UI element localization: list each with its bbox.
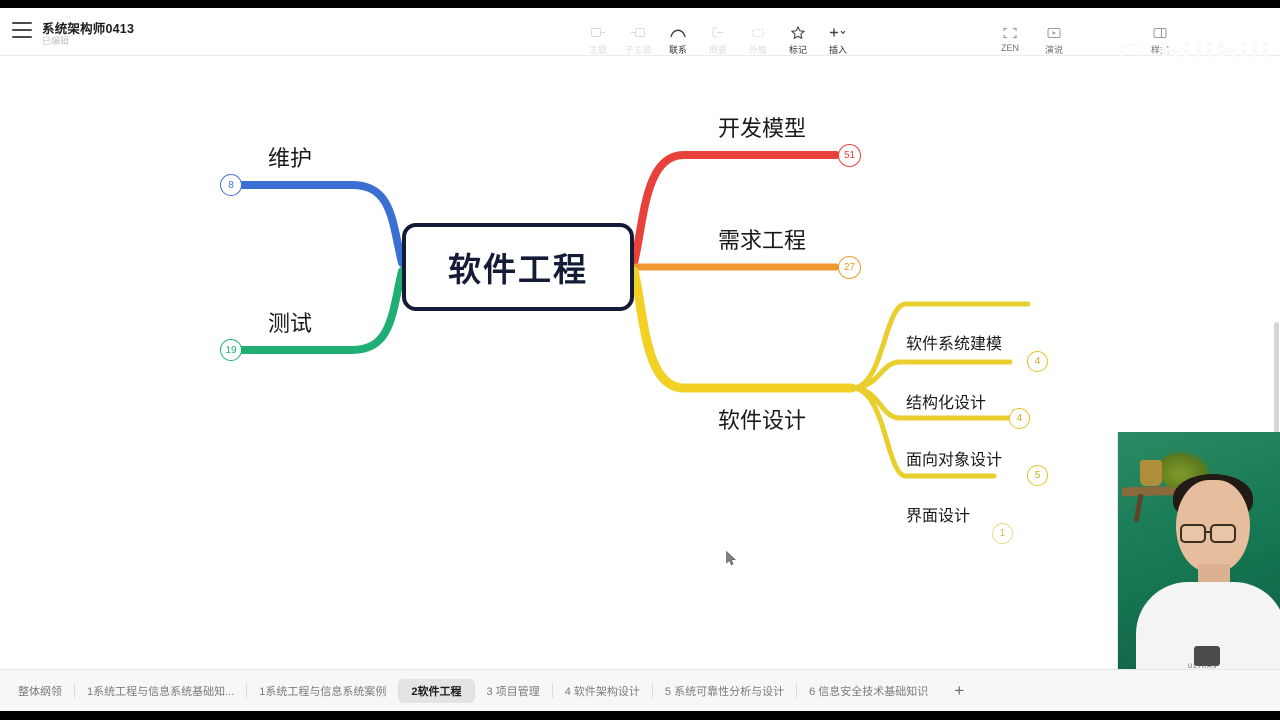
app-header: 系统架构师0413 已编辑 主题 子主题 联系 概要 xyxy=(0,8,1280,56)
sheet-tab-4[interactable]: 3 项目管理 xyxy=(475,679,552,703)
zen-icon xyxy=(1003,25,1017,40)
boundary-icon xyxy=(751,25,765,40)
glasses-left-lens xyxy=(1180,524,1206,543)
subnode-badge-structured-design[interactable]: 4 xyxy=(1009,408,1030,429)
subnode-badge-system-modeling[interactable]: 4 xyxy=(1027,351,1048,372)
toolbar: 主题 子主题 联系 概要 外框 xyxy=(578,16,858,62)
central-node[interactable]: 软件工程 xyxy=(402,223,634,311)
mindmap-branch-lines xyxy=(0,57,1280,669)
branch-label-design[interactable]: 软件设计 xyxy=(718,403,806,435)
add-sheet-button[interactable]: + xyxy=(940,682,978,699)
presentation-icon xyxy=(1047,25,1061,40)
branch-label-requirements[interactable]: 需求工程 xyxy=(718,223,806,255)
toolbar-label-zen: ZEN xyxy=(1001,43,1019,53)
relation-icon xyxy=(670,25,686,40)
branch-badge-maintenance[interactable]: 8 xyxy=(220,174,242,196)
sheet-tab-2[interactable]: 1系统工程与信息系统案例 xyxy=(247,679,398,703)
sheet-tab-1[interactable]: 1系统工程与信息系统基础知... xyxy=(75,679,246,703)
sheet-tab-6[interactable]: 5 系统可靠性分析与设计 xyxy=(653,679,796,703)
sheet-tabbar: 整体纲领 1系统工程与信息系统基础知... 1系统工程与信息系统案例 2软件工程… xyxy=(0,669,1280,711)
document-save-status: 已编辑 xyxy=(42,34,69,47)
toolbar-label-insert: 插入 xyxy=(829,43,847,56)
subnode-label-oo-design[interactable]: 面向对象设计 xyxy=(906,446,1002,470)
subnode-label-ui-design[interactable]: 界面设计 xyxy=(906,502,970,526)
toolbar-button-zen[interactable]: ZEN xyxy=(988,16,1032,53)
branch-badge-dev-model[interactable]: 51 xyxy=(838,144,861,167)
toolbar-button-subtopic[interactable]: 子主题 xyxy=(618,16,658,56)
summary-icon xyxy=(711,25,725,40)
toolbar-button-marker[interactable]: 标记 xyxy=(778,16,818,56)
sheet-tab-7[interactable]: 6 信息安全技术基础知识 xyxy=(797,679,940,703)
style-icon xyxy=(1153,25,1167,40)
toolbar-button-style[interactable]: 样式 xyxy=(1138,16,1182,56)
subnode-label-system-modeling[interactable]: 软件系统建模 xyxy=(906,330,1002,354)
shirt-logo-icon xyxy=(1194,646,1220,666)
toolbar-button-boundary[interactable]: 外框 xyxy=(738,16,778,56)
toolbar-button-presentation[interactable]: 演说 xyxy=(1032,16,1076,56)
branch-label-maintenance[interactable]: 维护 xyxy=(268,141,312,173)
webcam-overlay: ULTRAS xyxy=(1117,432,1280,675)
toolbar-right: ZEN 演说 样式 xyxy=(988,16,1182,62)
marker-icon xyxy=(791,25,805,40)
subnode-badge-ui-design[interactable]: 1 xyxy=(992,523,1013,544)
toolbar-button-topic[interactable]: 主题 xyxy=(578,16,618,56)
toolbar-button-summary[interactable]: 概要 xyxy=(698,16,738,56)
toolbar-label-marker: 标记 xyxy=(789,43,807,56)
subnode-label-structured-design[interactable]: 结构化设计 xyxy=(906,389,986,413)
toolbar-button-insert[interactable]: 插入 xyxy=(818,16,858,56)
branch-label-dev-model[interactable]: 开发模型 xyxy=(718,111,806,143)
branch-badge-requirements[interactable]: 27 xyxy=(838,256,861,279)
subnode-badge-oo-design[interactable]: 5 xyxy=(1027,465,1048,486)
hamburger-icon[interactable] xyxy=(12,22,32,38)
glasses-bridge xyxy=(1206,531,1212,533)
sheet-tab-5[interactable]: 4 软件架构设计 xyxy=(553,679,652,703)
toolbar-label-style: 样式 xyxy=(1151,43,1169,56)
top-letterbox xyxy=(0,0,1280,8)
toolbar-label-relation: 联系 xyxy=(669,43,687,56)
flower-pot xyxy=(1140,460,1162,486)
branch-badge-testing[interactable]: 19 xyxy=(220,339,242,361)
sheet-tab-0[interactable]: 整体纲领 xyxy=(6,679,74,703)
topic-icon xyxy=(591,25,606,40)
bottom-letterbox xyxy=(0,711,1280,720)
toolbar-label-presentation: 演说 xyxy=(1045,43,1063,56)
toolbar-label-subtopic: 子主题 xyxy=(624,43,651,56)
sheet-tab-3[interactable]: 2软件工程 xyxy=(399,679,473,703)
toolbar-label-topic: 主题 xyxy=(589,43,607,56)
subtopic-icon xyxy=(631,25,646,40)
toolbar-label-summary: 概要 xyxy=(709,43,727,56)
toolbar-button-relation[interactable]: 联系 xyxy=(658,16,698,56)
branch-label-testing[interactable]: 测试 xyxy=(268,306,312,338)
insert-icon xyxy=(829,25,847,40)
toolbar-label-boundary: 外框 xyxy=(749,43,767,56)
glasses-right-lens xyxy=(1210,524,1236,543)
mindmap-canvas[interactable]: 软件工程 维护 测试 开发模型 需求工程 软件设计 8 19 51 27 软件系… xyxy=(0,57,1280,669)
